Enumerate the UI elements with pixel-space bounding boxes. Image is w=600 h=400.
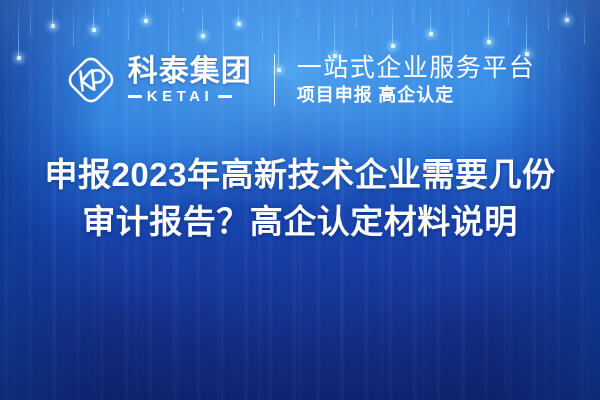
headline-line-2: 审计报告？高企认定材料说明 — [18, 199, 582, 246]
headline-line-1: 申报2023年高新技术企业需要几份 — [18, 152, 582, 199]
header-divider — [274, 54, 275, 106]
promo-banner: 科泰集团 KETAI 一站式企业服务平台 项目申报 高企认定 申报2023年高新… — [0, 0, 600, 400]
ketai-diamond-kp-monogram-logo-icon — [65, 54, 117, 106]
tagline-block: 一站式企业服务平台 项目申报 高企认定 — [297, 54, 536, 106]
brand-name-cn: 科泰集团 — [128, 56, 252, 88]
brand-name-en: KETAI — [147, 89, 213, 104]
brand-dash-left-icon — [128, 95, 142, 98]
brand-text: 科泰集团 KETAI — [128, 56, 252, 105]
tagline-main: 一站式企业服务平台 — [297, 54, 536, 82]
tagline-sub: 项目申报 高企认定 — [297, 85, 536, 106]
brand-dash-right-icon — [218, 95, 232, 98]
banner-header: 科泰集团 KETAI 一站式企业服务平台 项目申报 高企认定 — [0, 44, 600, 116]
brand-lockup: 科泰集团 KETAI — [65, 54, 252, 106]
brand-name-en-row: KETAI — [128, 89, 252, 104]
headline-block: 申报2023年高新技术企业需要几份 审计报告？高企认定材料说明 — [0, 152, 600, 246]
